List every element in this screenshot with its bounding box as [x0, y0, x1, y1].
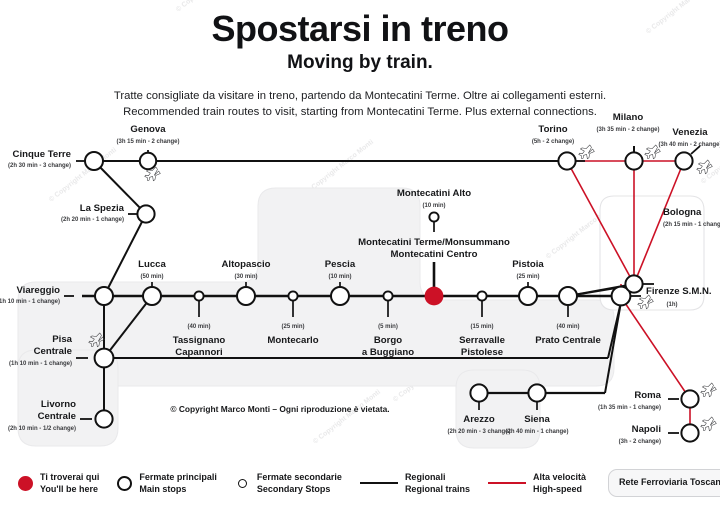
time-pisa-centrale: (1h 10 min - 1 change) — [9, 361, 72, 367]
legend-item-highspeed: Alta velocità High-speed — [488, 471, 586, 495]
time-venezia: (3h 40 min - 2 change) — [658, 142, 720, 148]
header: Spostarsi in treno Moving by train. Trat… — [0, 0, 720, 121]
label-altopascio: Altopascio — [221, 259, 270, 270]
station-node-venezia[interactable] — [675, 152, 692, 169]
lead-italian: Tratte consigliate da visitare in treno,… — [114, 90, 606, 102]
time-bologna: (2h 15 min - 1 change) — [663, 222, 720, 228]
legend-item-you-are-here: Ti troverai qui You'll be here — [18, 471, 99, 495]
legend-item-regional: Regionali Regional trains — [360, 471, 470, 495]
station-node-napoli[interactable] — [681, 424, 698, 441]
label-torino: Torino — [538, 124, 567, 135]
page-title: Spostarsi in treno — [0, 0, 720, 48]
label-venezia: Venezia — [672, 127, 708, 138]
you-are-here-icon — [18, 476, 33, 491]
station-node-arezzo[interactable] — [470, 384, 487, 401]
station-node-montecatini-centro[interactable] — [425, 287, 444, 306]
secondary-stop-icon — [238, 479, 247, 488]
time-livorno-centrale: (2h 10 min - 1/2 change) — [8, 426, 76, 432]
label-montecatini-alto: Montecatini Alto — [397, 188, 471, 199]
time-torino: (5h - 2 change) — [532, 139, 574, 145]
legend-regional-it: Regionali — [405, 471, 470, 483]
label-tassignano: Tassignano — [173, 335, 226, 346]
label-genova: Genova — [130, 124, 166, 135]
station-node-bologna[interactable] — [625, 275, 642, 292]
plane-icon-napoli — [699, 415, 718, 433]
station-node-torino[interactable] — [558, 152, 575, 169]
station-node-genova[interactable] — [140, 153, 156, 169]
label-napoli: Napoli — [632, 424, 661, 435]
label-la-spezia: La Spezia — [80, 203, 125, 214]
legend-you-here-en: You'll be here — [40, 483, 99, 495]
time-altopascio: (30 min) — [234, 274, 257, 280]
label-firenze: Firenze S.M.N. — [646, 286, 712, 297]
station-node-prato-centrale[interactable] — [559, 287, 577, 305]
plane-icon-venezia — [695, 158, 714, 176]
hs-firenze-roma — [621, 297, 690, 399]
time-arezzo: (2h 20 min - 3 change) — [447, 429, 510, 435]
station-node-borgo[interactable] — [383, 291, 392, 300]
time-cinque-terre: (2h 30 min - 3 change) — [8, 163, 71, 169]
label-milano: Milano — [613, 112, 644, 123]
time-serravalle: (15 min) — [470, 324, 493, 330]
station-node-montecarlo[interactable] — [288, 291, 297, 300]
regional-line-icon — [360, 482, 398, 485]
plane-icon-roma — [699, 381, 718, 399]
station-node-cinque-terre[interactable] — [85, 152, 103, 170]
label-viareggio: Viareggio — [16, 285, 60, 296]
station-node-tassignano[interactable] — [194, 291, 203, 300]
time-la-spezia: (2h 20 min - 1 change) — [61, 217, 124, 223]
station-node-montecatini-alto[interactable] — [429, 212, 438, 221]
time-siena: (2h 40 min - 1 change) — [505, 429, 568, 435]
legend-regional-en: Regional trains — [405, 483, 470, 495]
station-node-lucca[interactable] — [143, 287, 161, 305]
legend: Ti troverai qui You'll be here Fermate p… — [0, 455, 720, 511]
label-montecarlo: Montecarlo — [267, 335, 318, 346]
time-pescia: (10 min) — [328, 274, 351, 280]
station-node-viareggio[interactable] — [95, 287, 113, 305]
legend-highspeed-it: Alta velocità — [533, 471, 586, 483]
time-lucca: (50 min) — [140, 274, 163, 280]
legend-you-here-it: Ti troverai qui — [40, 471, 99, 483]
station-node-serravalle[interactable] — [477, 291, 486, 300]
station-node-pistoia[interactable] — [519, 287, 537, 305]
label-montecatini-centro-2: Montecatini Centro — [391, 249, 478, 260]
legend-main-stop-it: Fermate principali — [139, 471, 217, 483]
label-serravalle: Serravalle — [459, 335, 505, 346]
label-livorno-centrale-2: Centrale — [38, 411, 76, 422]
time-viareggio: (1h 10 min - 1 change) — [0, 299, 60, 305]
label-pistoia: Pistoia — [512, 259, 544, 270]
time-firenze: (1h) — [667, 302, 678, 308]
label-borgo: Borgo — [374, 335, 402, 346]
highspeed-line-icon — [488, 482, 526, 485]
time-pistoia: (25 min) — [516, 274, 539, 280]
label-tassignano-2: Capannori — [175, 347, 222, 358]
legend-main-stop-en: Main stops — [139, 483, 217, 495]
label-borgo-2: a Buggiano — [362, 347, 414, 358]
label-livorno-centrale: Livorno — [41, 399, 76, 410]
station-node-pescia[interactable] — [331, 287, 349, 305]
zone-south — [456, 370, 540, 448]
label-prato-centrale: Prato Centrale — [535, 335, 601, 346]
station-node-pisa-centrale[interactable] — [95, 349, 114, 368]
label-arezzo: Arezzo — [463, 414, 495, 425]
time-roma: (1h 35 min - 1 change) — [598, 405, 661, 411]
label-cinque-terre: Cinque Terre — [13, 149, 71, 160]
main-stop-icon — [117, 476, 132, 491]
label-pescia: Pescia — [325, 259, 356, 270]
station-node-livorno-centrale[interactable] — [95, 410, 112, 427]
station-node-la-spezia[interactable] — [137, 205, 154, 222]
legend-highspeed-text: Alta velocità High-speed — [533, 471, 586, 495]
legend-you-here-text: Ti troverai qui You'll be here — [40, 471, 99, 495]
station-node-roma[interactable] — [681, 390, 698, 407]
page-subtitle: Moving by train. — [0, 52, 720, 74]
time-tassignano: (40 min) — [187, 324, 210, 330]
legend-item-secondary-stops: Fermate secondarie Secondary Stops — [235, 471, 342, 495]
label-pisa-centrale: Pisa — [52, 334, 72, 345]
station-node-milano[interactable] — [625, 152, 642, 169]
legend-regional-text: Regionali Regional trains — [405, 471, 470, 495]
label-pisa-centrale-2: Centrale — [34, 346, 72, 357]
railway-map: Cinque Terre (2h 30 min - 3 change) Geno… — [0, 110, 720, 455]
label-bologna: Bologna — [663, 207, 702, 218]
network-badge: Rete Ferroviaria Toscana Tuscany Railway… — [608, 469, 720, 496]
network-badge-it: Rete Ferroviaria Toscana — [619, 477, 720, 487]
legend-secondary-text: Fermate secondarie Secondary Stops — [257, 471, 342, 495]
legend-highspeed-en: High-speed — [533, 483, 586, 495]
time-napoli: (3h - 2 change) — [619, 439, 661, 445]
time-montecatini-alto: (10 min) — [422, 203, 445, 209]
label-siena: Siena — [524, 414, 550, 425]
time-milano: (3h 35 min - 2 change) — [596, 127, 659, 133]
time-genova: (3h 15 min - 2 change) — [116, 139, 179, 145]
time-montecarlo: (25 min) — [281, 324, 304, 330]
legend-item-main-stops: Fermate principali Main stops — [117, 471, 217, 495]
time-borgo: (5 min) — [378, 324, 398, 330]
label-lucca: Lucca — [138, 259, 166, 270]
copyright-notice: © Copyright Marco Monti – Ogni riproduzi… — [170, 404, 389, 414]
station-node-siena[interactable] — [528, 384, 545, 401]
time-prato-centrale: (40 min) — [556, 324, 579, 330]
label-roma: Roma — [634, 390, 661, 401]
station-node-altopascio[interactable] — [237, 287, 255, 305]
label-serravalle-2: Pistolese — [461, 347, 503, 358]
infographic-root: Spostarsi in treno Moving by train. Trat… — [0, 0, 720, 511]
legend-main-stop-text: Fermate principali Main stops — [139, 471, 217, 495]
label-montecatini-centro: Montecatini Terme/Monsummano — [358, 237, 510, 248]
plane-icon-torino — [577, 143, 596, 161]
legend-secondary-it: Fermate secondarie — [257, 471, 342, 483]
legend-secondary-en: Secondary Stops — [257, 483, 342, 495]
